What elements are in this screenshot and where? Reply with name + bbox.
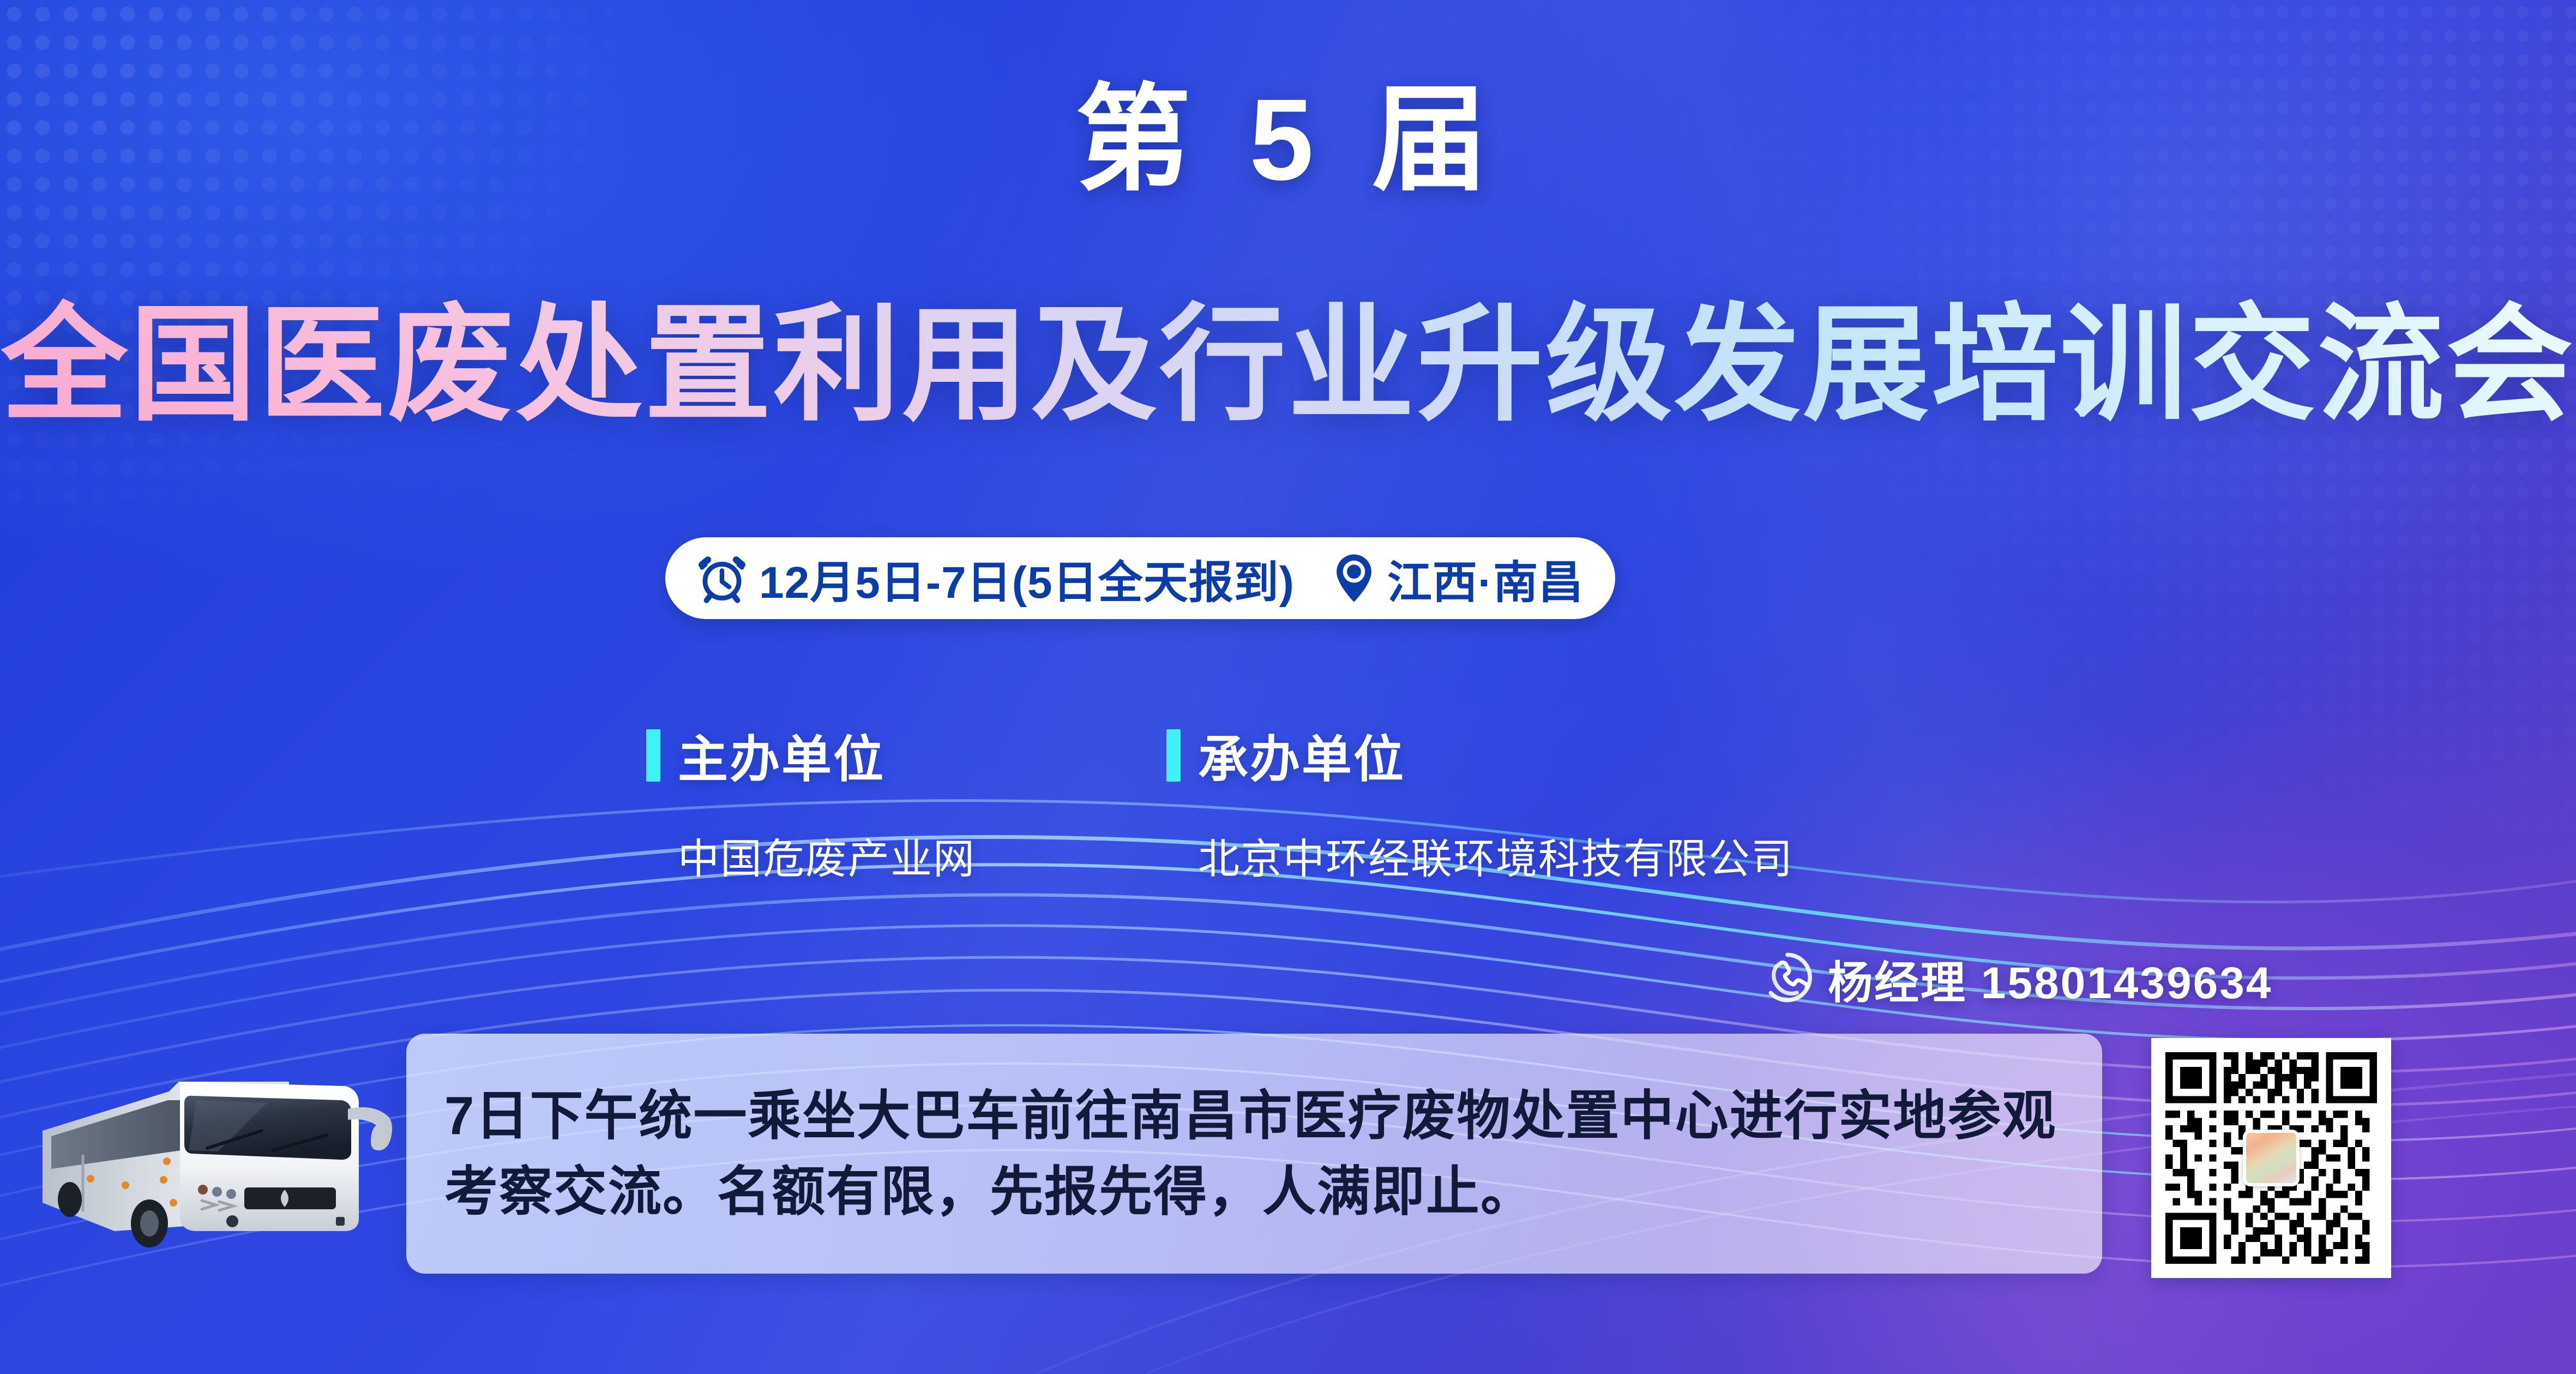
flower-bouquet-avatar	[2243, 1130, 2300, 1186]
page-title-headline: 全国医废处置利用及行业升级发展培训交流会	[0, 295, 2576, 436]
location-pin-icon	[1333, 553, 1375, 603]
accent-bar-icon	[646, 729, 660, 782]
notice-text: 7日下午统一乘坐大巴车前往南昌市医疗废物处置中心进行实地参观考察交流。名额有限，…	[444, 1078, 2064, 1229]
page-title-edition: 第 5 届	[0, 82, 2576, 197]
organizer-block-coorganizer: 承办单位 北京中环经联环境科技有限公司	[1166, 719, 1793, 885]
contact-name-phone: 杨经理 15801439634	[1828, 946, 2272, 1011]
organizer-name: 中国危废产业网	[678, 825, 976, 885]
organizer-header-coorganizer: 承办单位	[1166, 719, 1793, 791]
organizers-section: 主办单位 中国危废产业网 承办单位 北京中环经联环境科技有限公司	[646, 719, 1793, 885]
contact-info: 杨经理 15801439634	[1761, 946, 2272, 1011]
organizer-role-label: 承办单位	[1198, 719, 1405, 791]
phone-circle-icon	[1761, 951, 1814, 1006]
event-location: 江西·南昌	[1387, 546, 1584, 611]
organizer-role-label: 主办单位	[678, 719, 885, 791]
coach-bus-illustration	[33, 1039, 414, 1274]
organizer-header-host: 主办单位	[646, 719, 976, 791]
organizer-name: 北京中环经联环境科技有限公司	[1198, 825, 1793, 885]
event-date: 12月5日-7日(5日全天报到)	[759, 546, 1295, 611]
qr-code-icon[interactable]	[2151, 1038, 2391, 1278]
notice-panel: 7日下午统一乘坐大巴车前往南昌市医疗废物处置中心进行实地参观考察交流。名额有限，…	[406, 1034, 2102, 1274]
date-location-pill: 12月5日-7日(5日全天报到) 江西·南昌	[665, 537, 1615, 619]
alarm-clock-icon	[697, 553, 747, 603]
organizer-block-host: 主办单位 中国危废产业网	[646, 719, 976, 885]
accent-bar-icon	[1166, 729, 1181, 782]
conference-banner: 第 5 届 全国医废处置利用及行业升级发展培训交流会 12月5日-7日(5日全天…	[0, 0, 2576, 1374]
